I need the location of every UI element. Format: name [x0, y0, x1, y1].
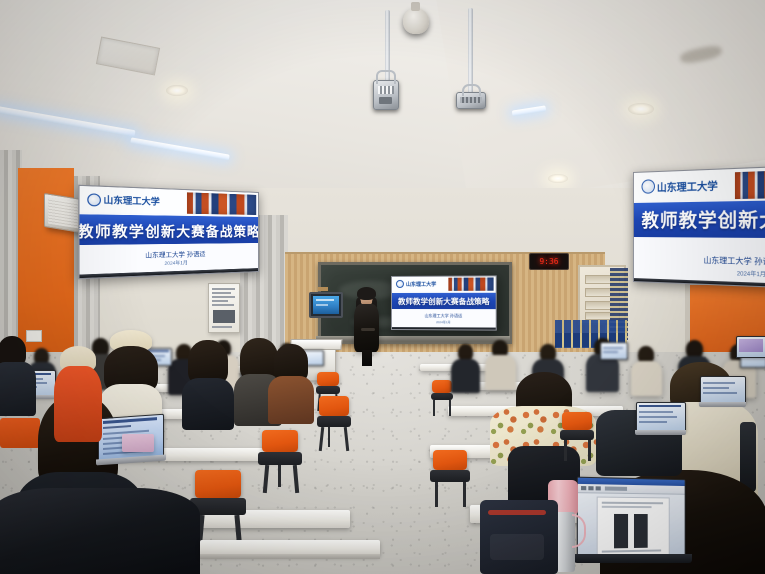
- laptop-right-corner[interactable]: [736, 336, 765, 358]
- projector-bracket-left: [376, 70, 396, 84]
- left-projection-screen: 山东理工大学 教师教学创新大赛备战策略 山东理工大学 孙语适 2024年1月: [78, 185, 259, 280]
- slide-logo-text: 山东理工大学: [103, 193, 159, 207]
- slide-title-band-right: 教师教学创新大赛备: [634, 200, 765, 238]
- downlight-2: [628, 103, 654, 115]
- slide-logo-center: 山东理工大学: [396, 280, 436, 288]
- slide-title-band-center: 教师教学创新大赛备战策略: [392, 293, 496, 309]
- audience-far-left-person: [0, 336, 34, 416]
- slide-logo-left: 山东理工大学: [87, 193, 160, 208]
- audience-foreground-left: [0, 488, 200, 574]
- laptop-mid-right[interactable]: [636, 402, 686, 436]
- led-clock-text: 9:36: [539, 257, 558, 266]
- laptop-right-2[interactable]: [700, 376, 746, 408]
- audience-mid-left-4: [268, 344, 314, 424]
- laptop-far-3[interactable]: [600, 342, 628, 360]
- ceiling-projector[interactable]: [373, 80, 399, 110]
- slide-header-photo-center: [448, 277, 493, 290]
- slide-header-photo: [187, 192, 256, 215]
- wall-notice-board: [208, 283, 240, 333]
- slide-logo-right: 山东理工大学: [642, 177, 718, 195]
- room-control-display[interactable]: [309, 292, 343, 318]
- audience-orange-coat: [48, 346, 108, 442]
- ceiling: [0, 0, 765, 200]
- slide-date-right: 2024年1月: [634, 266, 765, 279]
- projector-mount-rod-right: [468, 8, 473, 94]
- slide-date-center: 2024年1月: [392, 320, 496, 324]
- led-clock-display: 9:36: [529, 253, 569, 270]
- display-mount: [318, 287, 328, 291]
- smoke-detector-icon: [403, 8, 429, 34]
- right-projection-screen: 山东理工大学 教师教学创新大赛备 山东理工大学 孙语适 2024年1月: [633, 166, 765, 288]
- chair-right-2: [430, 450, 470, 508]
- desk-foreground-edge: [200, 554, 380, 559]
- laptop-foreground-right[interactable]: [578, 478, 696, 574]
- slide-logo-text-center: 山东理工大学: [406, 280, 436, 287]
- downlight-1: [166, 85, 188, 96]
- chair-right-1: [560, 412, 594, 462]
- slide-header-photo-right: [735, 170, 765, 199]
- classroom-scene: 9:36 山东理工大学 教师教学创: [0, 0, 765, 574]
- laptop-toolbar: [578, 484, 685, 495]
- pink-case: [122, 434, 154, 452]
- slide-title-left: 教师教学创新大赛备战策略: [80, 218, 259, 240]
- downlight-3: [548, 174, 568, 183]
- slide-title-band-left: 教师教学创新大赛备战策略: [80, 214, 259, 245]
- chair-left-1: [258, 430, 302, 494]
- laptop-document-page: [597, 497, 670, 558]
- backpack: [480, 500, 558, 574]
- camera-bracket: [462, 84, 481, 96]
- center-projection-screen: 山东理工大学 教师教学创新大赛备战策略 山东理工大学 孙语适 2024年1月: [391, 275, 497, 330]
- slide-presenter-center: 山东理工大学 孙语适: [392, 313, 496, 319]
- smoke-detector-mount: [411, 2, 420, 11]
- audience-mid-left-2: [180, 340, 236, 430]
- wall-speaker: [44, 193, 82, 233]
- slide-title-center: 教师教学创新大赛备战策略: [398, 295, 489, 306]
- slide-logo-text-right: 山东理工大学: [657, 177, 718, 194]
- slide-title-right: 教师教学创新大赛备: [642, 204, 765, 234]
